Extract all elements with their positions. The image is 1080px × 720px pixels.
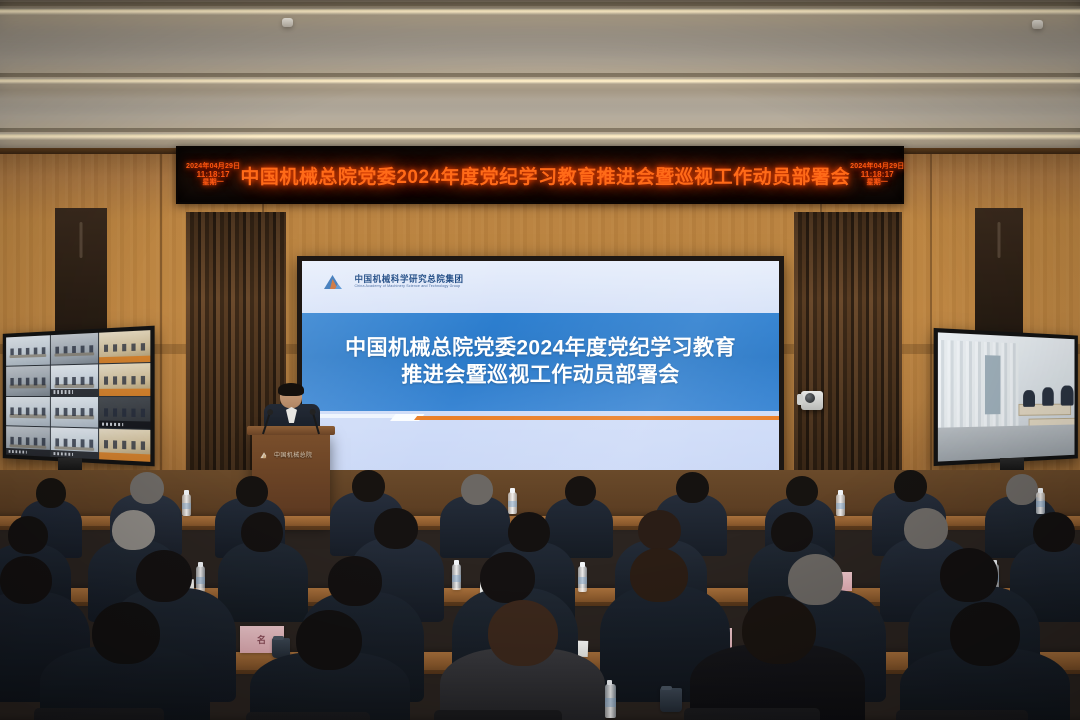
attendee-head [92,602,160,664]
ceiling [0,0,1080,150]
video-tile [99,330,150,363]
slide-logo-text: 中国机械科学研究总院集团 China Academy of Machinery … [354,275,463,289]
left-video-conference-monitor [3,326,155,467]
attendee-head [940,548,998,602]
led-banner: 2024年04月29日 11:18:17 星期一 中国机械总院党委2024年度党… [176,146,904,204]
video-tile [51,396,98,427]
led-weekday-right: 星期一 [867,179,889,187]
attendee-head [904,508,948,549]
slide-logo-name-cn: 中国机械科学研究总院集团 [354,274,463,283]
slide-title: 中国机械总院党委2024年度党纪学习教育 推进会暨巡视工作动员部署会 [302,335,779,390]
attendee-head [480,552,535,603]
slide-title-line-2: 推进会暨巡视工作动员部署会 [302,362,779,389]
ceiling-recess-2 [0,73,1080,77]
ceiling-spotlight [1032,20,1043,29]
led-banner-title: 中国机械总院党委2024年度党纪学习教育推进会暨巡视工作动员部署会 [240,162,850,189]
projection-screen: 中国机械科学研究总院集团 China Academy of Machinery … [297,256,784,488]
acoustic-panel-left [55,208,107,338]
attendee-head [112,510,155,550]
attendee-head [638,510,681,550]
attendee-head [676,472,709,503]
attendee-head [352,470,385,502]
remote-room-door [985,355,1000,415]
video-tile [6,366,50,396]
audience-area: 名 主任 名 副 刘 [0,470,1080,720]
water-bottle [182,494,191,516]
acoustic-panel-right [975,208,1023,334]
attendee-body [218,542,308,622]
podium-top [247,426,335,435]
podium-plaque: 中国机械总院 [260,448,322,461]
attendee-head [374,508,418,549]
accent-orange-stripe [414,416,779,420]
ceiling-spotlight [282,18,293,27]
video-tile [99,428,150,461]
right-monitor-screen [938,332,1075,461]
mountain-triangle-logo-icon [323,273,349,290]
remote-room-person [1023,390,1035,407]
attendee-head [1006,474,1038,505]
remote-room-feed [938,332,1075,461]
video-tile [99,363,150,395]
cove-light-strip-2 [0,78,1080,84]
water-bottle [452,564,461,590]
attendee-head [742,596,816,664]
chair-back [684,708,820,720]
attendee-head [328,556,382,606]
video-tile [51,427,98,459]
led-banner-left-info: 2024年04月29日 11:18:17 星期一 [186,163,240,188]
ceiling-recess-3 [0,128,1080,132]
video-tile [99,397,150,429]
video-tile [51,333,98,365]
attendee-head [488,600,558,666]
attendee-head [565,476,596,506]
cove-light-strip-1 [0,8,1080,15]
presentation-slide: 中国机械科学研究总院集团 China Academy of Machinery … [302,261,779,483]
remote-room-person [1061,385,1073,405]
speaker-hair [278,383,304,396]
remote-room-curtain [938,340,1018,433]
water-bottle [1036,492,1045,514]
attendee-head [894,470,927,502]
slide-accent-stripe [302,411,779,427]
video-tile [51,365,98,396]
attendee-head [36,478,66,508]
led-weekday-left: 星期一 [202,179,224,187]
attendee-head [786,476,818,506]
video-tile [6,426,50,457]
name-placard-text: 名 [257,633,267,646]
curtain-right [794,212,902,504]
attendee-head [8,516,48,554]
slide-logo-name-en: China Academy of Machinery Science and T… [354,285,463,289]
chair-back [34,708,164,720]
water-bottle [605,684,616,718]
attendee-head [771,512,813,552]
attendee-head [296,610,362,670]
attendee-head [236,476,268,507]
water-bottle [578,566,587,592]
water-bottle [836,494,845,516]
chair-back [246,712,370,720]
slide-title-line-1: 中国机械总院党委2024年度党纪学习教育 [302,335,779,362]
attendee-head [1033,512,1075,552]
water-bottle [508,492,517,514]
remote-room-person [1042,387,1054,405]
ptz-camera-icon [801,391,823,410]
water-bottle [196,566,205,592]
video-tile [6,335,50,366]
remote-room-floor [938,425,1075,462]
ceiling-recess-1 [0,2,1080,6]
chair-back [896,710,1028,720]
led-banner-right-info: 2024年04月29日 11:18:17 星期一 [850,163,904,188]
attendee-head [950,602,1020,666]
chair-back [434,710,562,720]
left-monitor-screen [6,330,150,462]
attendee-head [130,472,164,504]
attendee-head [508,512,550,552]
right-remote-room-monitor [934,328,1078,466]
attendee-head [630,548,688,602]
podium-plaque-text: 中国机械总院 [274,450,312,459]
tea-cup [660,688,682,712]
mountain-triangle-logo-icon [260,451,271,459]
slide-logo: 中国机械科学研究总院集团 China Academy of Machinery … [323,273,463,290]
attendee-head [461,474,493,505]
attendee-head [241,512,283,552]
attendee-head [136,550,192,602]
conference-hall-photo: 2024年04月29日 11:18:17 星期一 中国机械总院党委2024年度党… [0,0,1080,720]
attendee-head [788,554,843,605]
video-conference-grid [6,330,150,462]
cove-light-strip-3 [0,133,1080,140]
slide-title-band: 中国机械总院党委2024年度党纪学习教育 推进会暨巡视工作动员部署会 [302,313,779,411]
video-tile [6,396,50,426]
attendee-head [0,556,52,604]
